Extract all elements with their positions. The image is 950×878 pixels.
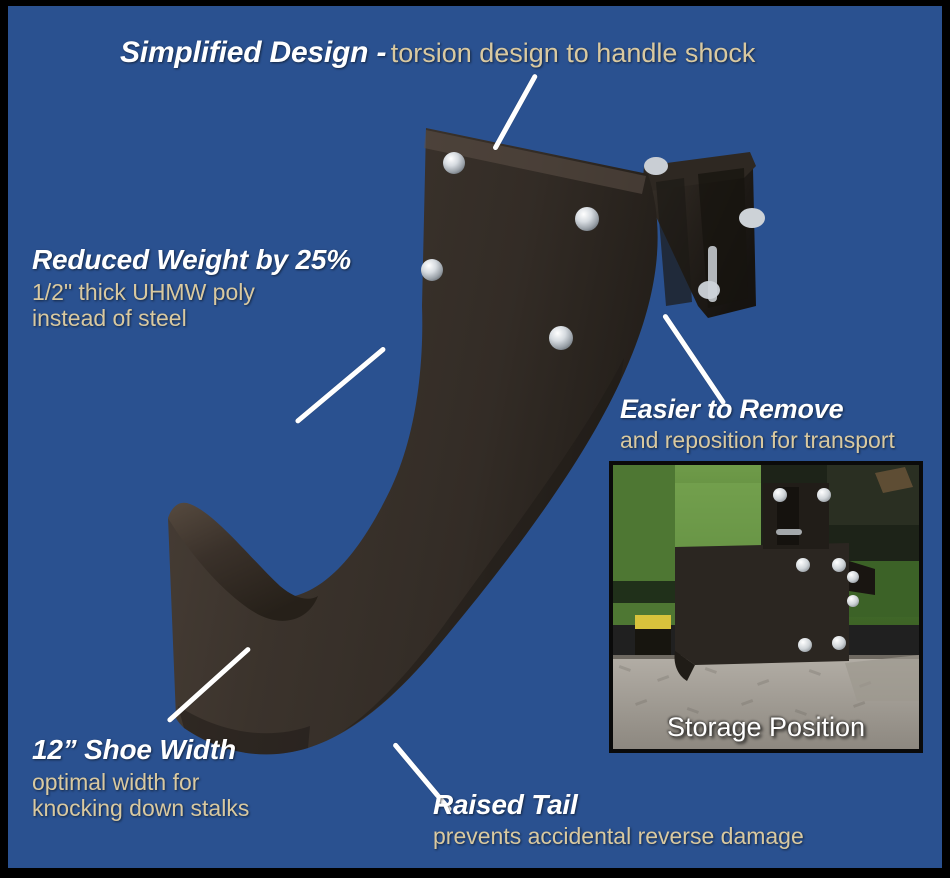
shoe-body-group [168,128,658,754]
mounting-bracket-group [636,152,765,318]
callout-remove-sub: and reposition for transport [620,427,895,453]
leader-line-shoe [166,646,251,723]
callout-weight-sub-line1: 1/2" thick UHMW poly [32,279,351,305]
leader-line-remove [662,313,727,405]
callout-title-head: Simplified Design - [120,36,386,69]
callout-remove-head: Easier to Remove [620,394,895,425]
callout-shoe-sub-line2: knocking down stalks [32,795,249,821]
callout-reduced-weight: Reduced Weight by 25% 1/2" thick UHMW po… [32,244,351,331]
leader-line-weight [294,346,386,424]
inset-caption: Storage Position [613,712,919,743]
callout-easier-to-remove: Easier to Remove and reposition for tran… [620,394,895,453]
callout-shoe-width: 12” Shoe Width optimal width for knockin… [32,734,249,821]
callout-tail-head: Raised Tail [433,789,804,821]
storage-position-inset-photo: Storage Position [609,461,923,753]
feature-callout-poster: Simplified Design - torsion design to ha… [0,0,950,878]
poster-background: Simplified Design - torsion design to ha… [8,6,942,868]
inset-photo-scene [613,465,919,749]
shoe-bolts-group [421,152,599,350]
callout-tail-sub: prevents accidental reverse damage [433,823,804,849]
leader-line-title [492,73,538,151]
callout-weight-head: Reduced Weight by 25% [32,244,351,276]
callout-raised-tail: Raised Tail prevents accidental reverse … [433,789,804,849]
callout-title-sub: torsion design to handle shock [391,38,756,68]
callout-simplified-design: Simplified Design - torsion design to ha… [120,36,755,70]
callout-weight-sub-line2: instead of steel [32,305,351,331]
callout-shoe-head: 12” Shoe Width [32,734,249,766]
callout-shoe-sub-line1: optimal width for [32,769,249,795]
